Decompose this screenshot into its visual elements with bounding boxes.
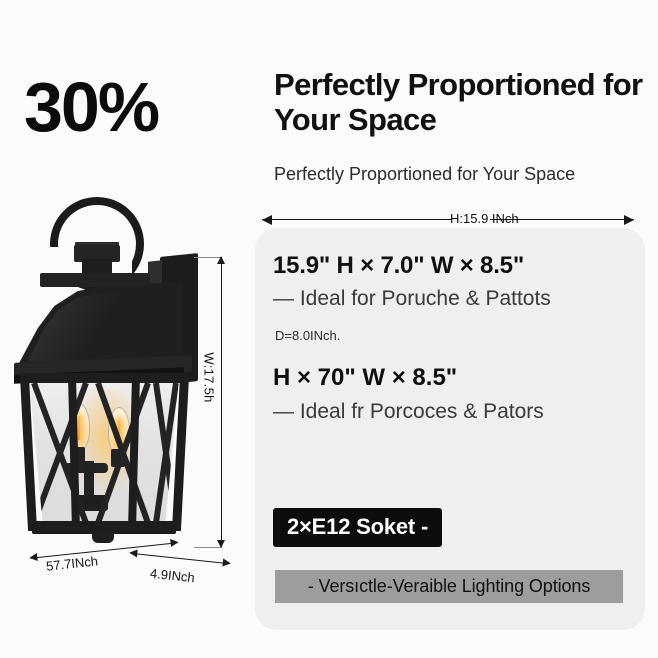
cage-top-rail <box>22 373 186 383</box>
depth-note: D=8.0INch. <box>275 328 340 343</box>
specs-card: 15.9" H × 7.0" W × 8.5" — Ideal for Poru… <box>255 228 645 630</box>
arrow-left-icon <box>262 215 272 225</box>
vertical-dimension-line <box>221 257 222 547</box>
lamp-top-cap <box>40 273 150 287</box>
vertical-dimension-label: W:17.5h <box>202 352 217 402</box>
lighting-options-bar: - Versıctle-Veraible Lighting Options <box>275 570 623 603</box>
bottom-left-dimension-label: 57.7INch <box>45 553 98 573</box>
arrow-right-icon <box>170 538 179 547</box>
lamp-bottom-finial <box>92 531 114 543</box>
arrow-left-icon <box>29 553 38 562</box>
subheadline: Perfectly Proportioned for Your Space <box>274 163 658 186</box>
cage-cross-brace-icon <box>24 377 184 529</box>
spec-secondary-dimensions: H × 70" W × 8.5" <box>273 364 629 392</box>
headline: Perfectly Proportioned for Your Space <box>274 68 652 137</box>
right-panel: Perfectly Proportioned for Your Space Pe… <box>250 0 658 658</box>
discount-badge-text: 30% <box>24 72 158 142</box>
socket-badge: 2×E12 Soket - <box>273 508 442 547</box>
spec-primary-dimensions: 15.9" H × 7.0" W × 8.5" <box>273 252 629 280</box>
arrow-left-icon <box>129 549 138 558</box>
arrow-down-icon <box>217 540 225 548</box>
measurement-label: H:15.9 INch <box>450 211 519 226</box>
lamp-hood-sheen <box>28 291 148 361</box>
lamp-glass-cage <box>24 377 184 529</box>
arrow-up-icon <box>217 256 225 264</box>
spec-primary-usecase: — Ideal for Poruche & Pattots <box>273 286 631 312</box>
arrow-right-icon <box>624 215 634 225</box>
measurement-line-left <box>262 219 452 220</box>
arrow-right-icon <box>222 559 231 568</box>
bottom-right-dimension-label: 4.9INch <box>149 566 195 586</box>
product-infographic: 30% <box>0 0 658 658</box>
left-panel: 30% <box>0 0 250 658</box>
product-illustration: W:17.5h <box>8 195 223 555</box>
spec-secondary-usecase: — Ideal fr Porcoces & Pators <box>273 398 573 425</box>
width-measurement-indicator: H:15.9 INch <box>262 213 634 227</box>
